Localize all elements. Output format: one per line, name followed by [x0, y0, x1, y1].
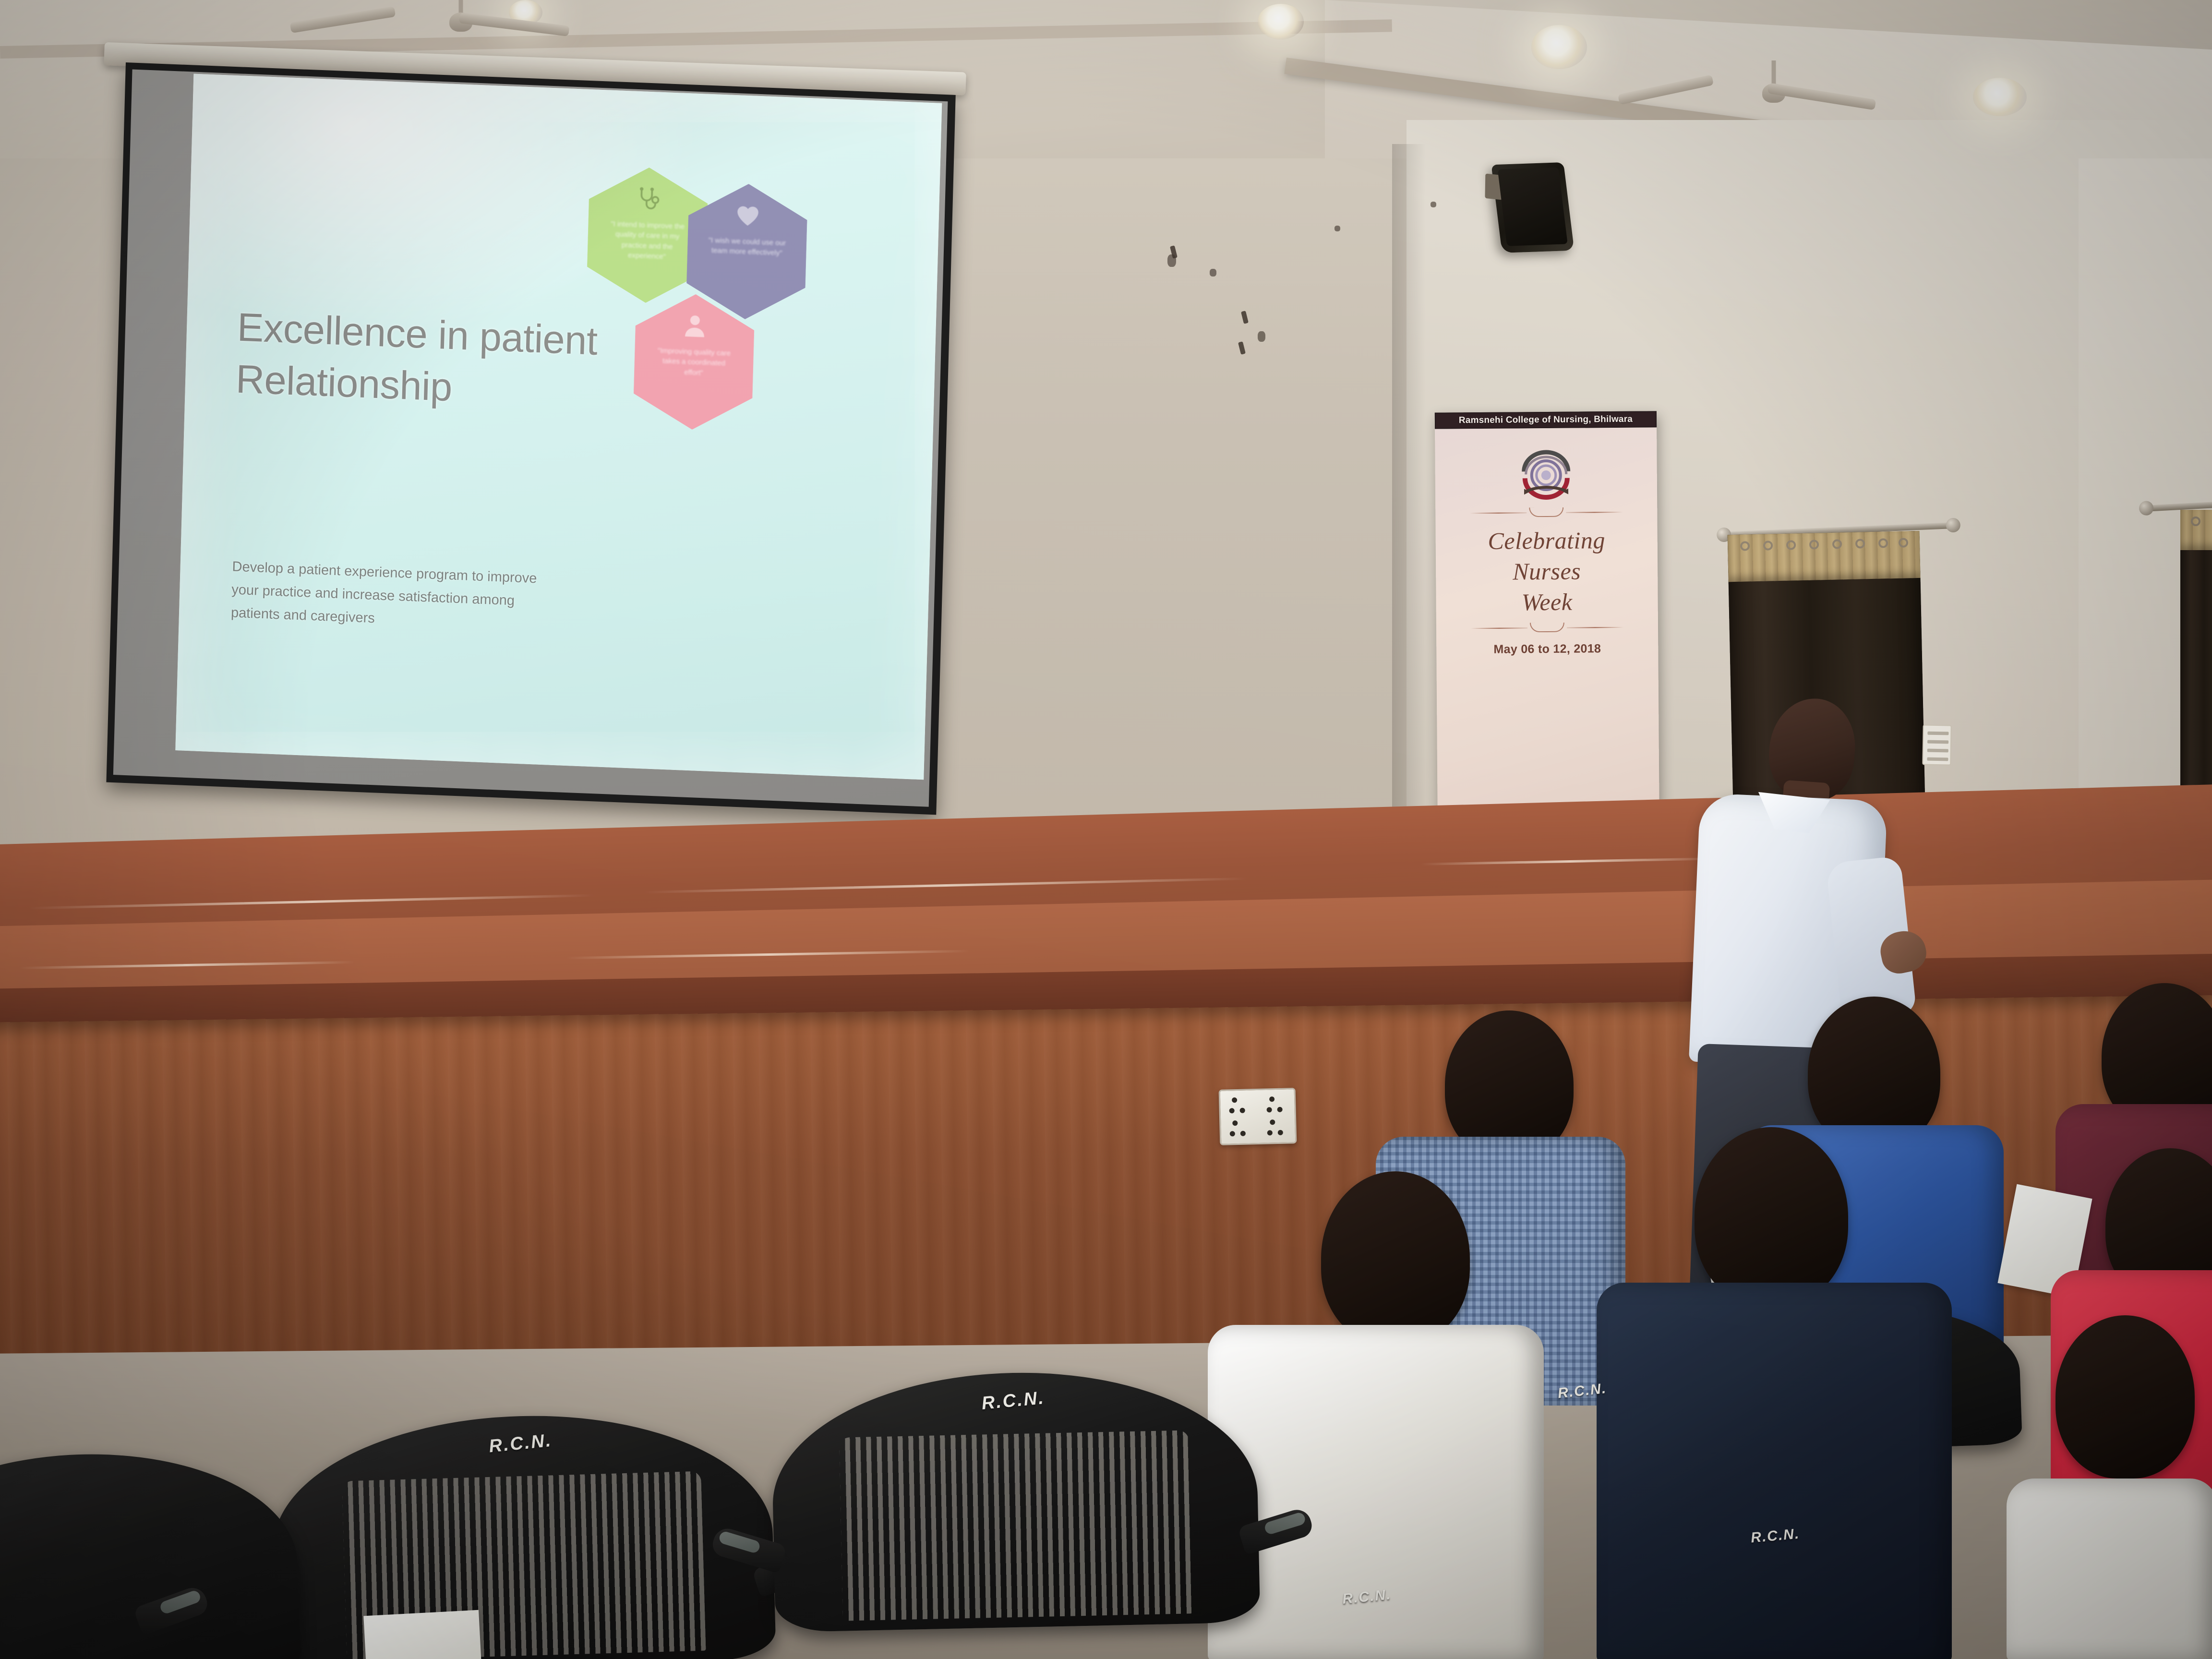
standee-headline: Celebrating Nurses Week	[1488, 525, 1606, 618]
fan-rod	[1772, 60, 1776, 86]
auditorium-scene: Excellence in patient Relationship Devel…	[0, 0, 2212, 1659]
person-icon	[681, 312, 709, 341]
slide-body-text: Develop a patient experience program to …	[230, 555, 558, 637]
headline-line-3: Week	[1488, 586, 1606, 618]
wall-mark	[1334, 226, 1340, 231]
ceiling-fan	[379, 0, 542, 37]
hexagon-quote: "I intend to improve the quality of care…	[605, 219, 689, 263]
audience-torso	[2007, 1479, 2212, 1659]
standee-body: Celebrating Nurses Week May 06 to 12, 20…	[1435, 427, 1659, 845]
standee-ornament-top	[1467, 506, 1625, 518]
ceiling-light	[1258, 4, 1304, 39]
institution-name: Ramsnehi College of Nursing, Bhilwara	[1459, 414, 1633, 426]
ceiling-light	[1531, 25, 1587, 69]
chair-empty-right[interactable]: R.C.N.	[770, 1368, 1261, 1632]
hexagon-infographic: "I intend to improve the quality of care…	[583, 161, 792, 438]
wall-switch-panel[interactable]	[1922, 724, 1951, 765]
curtain-grommet	[2191, 517, 2200, 526]
heart-icon	[733, 202, 762, 230]
hexagon-quote: "Improving quality care takes a coordina…	[652, 346, 736, 380]
power-outlet-panel[interactable]	[1219, 1088, 1297, 1145]
light-switch[interactable]	[1927, 740, 1948, 744]
standee-ornament-bottom	[1468, 622, 1626, 633]
light-switch[interactable]	[1927, 749, 1948, 753]
event-date-range: May 06 to 12, 2018	[1493, 642, 1601, 657]
wall-mark	[1210, 269, 1216, 276]
chair-label: R.C.N.	[1750, 1526, 1801, 1547]
college-logo	[1514, 449, 1578, 503]
chair-label: R.C.N.	[1342, 1587, 1392, 1608]
wall-mark	[1258, 331, 1265, 342]
audience-head	[1695, 1127, 1848, 1306]
wall-mark	[1431, 202, 1436, 207]
stethoscope-icon	[634, 185, 663, 214]
ceiling-fan	[1695, 60, 1853, 113]
curtain-valance	[1728, 531, 1921, 582]
light-switch[interactable]	[1927, 732, 1948, 735]
wall-corner-shadow	[1392, 144, 1426, 864]
ornament-flourish	[1529, 507, 1563, 517]
presentation-slide: Excellence in patient Relationship Devel…	[175, 74, 942, 780]
chair-seat-paper	[363, 1610, 481, 1659]
chair-empty-left[interactable]: R.C.N.	[270, 1409, 776, 1659]
ornament-flourish	[1530, 623, 1564, 633]
curtain-valance	[2180, 510, 2212, 550]
wall-speaker	[1491, 162, 1574, 253]
audience-head	[1321, 1171, 1470, 1345]
chair-slats	[840, 1431, 1192, 1621]
headline-line-1: Celebrating	[1488, 525, 1605, 556]
chair-label: R.C.N.	[1557, 1381, 1608, 1402]
chair-occupied[interactable]: R.C.N.	[1218, 1580, 1519, 1659]
event-standee-banner: Ramsnehi College of Nursing, Bhilwara	[1435, 411, 1659, 845]
light-switch[interactable]	[1927, 757, 1948, 761]
chair-occupied[interactable]: R.C.N.	[1622, 1514, 1931, 1659]
projector-screen: Excellence in patient Relationship Devel…	[106, 62, 955, 815]
chair-partial-left-edge[interactable]	[0, 1447, 301, 1659]
chair-occupied[interactable]: R.C.N.	[1428, 1368, 1740, 1522]
headline-line-2: Nurses	[1488, 555, 1606, 587]
standee-header-bar: Ramsnehi College of Nursing, Bhilwara	[1435, 411, 1657, 429]
slide-title: Excellence in patient Relationship	[235, 301, 602, 420]
audience-head	[2056, 1315, 2195, 1479]
hexagon-quote: "I wish we could use our team more effec…	[706, 235, 789, 259]
ceiling-light	[1973, 78, 2027, 116]
speaker-grille	[1498, 167, 1568, 246]
screen-surface: Excellence in patient Relationship Devel…	[175, 74, 942, 780]
